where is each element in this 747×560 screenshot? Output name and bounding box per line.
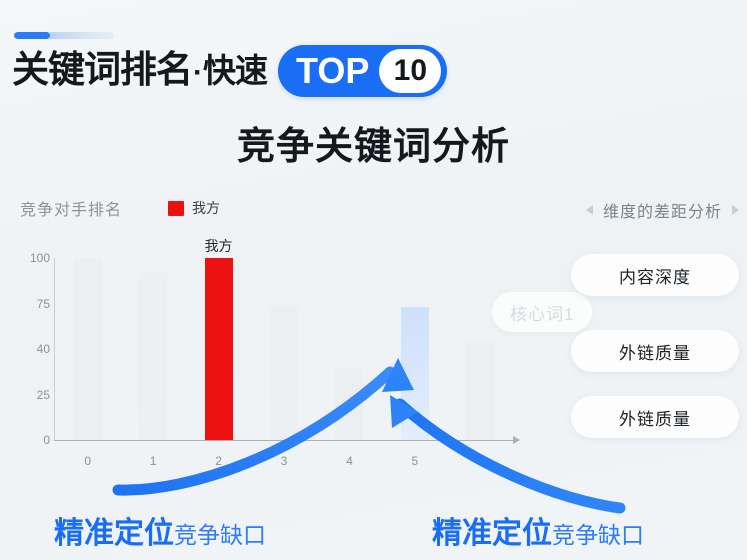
chart-y-tick-label: 40 [14,342,50,356]
chart-x-tick-label: 5 [412,454,419,468]
progress-bar [14,32,114,39]
dimension-panel-title: 维度的差距分析 [603,198,722,222]
top-badge-number-pill: 10 [379,49,441,93]
chart-axis-horizontal [54,440,514,441]
chart-axis-arrow-icon [513,436,520,444]
caption-left-weak: 竞争缺口 [174,516,266,550]
chart-bar[interactable] [139,273,167,440]
chart-x-tick-label: 1 [150,454,157,468]
kicker-sub: 快速 [203,52,267,89]
dimension-card-label: 内容深度 [619,263,691,288]
chart-bar[interactable] [270,307,298,440]
caption-left: 精准定位 竞争缺口 [54,508,266,552]
legend-item-label: 我方 [192,198,220,218]
header-kicker: 关键词排名·快速 [12,44,267,98]
dimension-card-3[interactable]: 外链质量 [571,396,739,438]
top-badge-word: TOP [296,50,369,92]
chart-bar-highlight-label: 我方 [205,236,233,256]
progress-bar-soft [50,32,114,39]
kicker-dot: · [192,56,203,89]
kicker-text: 关键词排名·快速 [12,43,267,100]
dimension-card-label: 外链质量 [619,405,691,430]
chart-y-axis: 1007540250 [14,250,50,440]
core-keyword-pill[interactable]: 核心词1 [492,292,592,332]
caption-left-strong: 精准定位 [54,508,174,552]
dimension-card-label: 外链质量 [619,339,691,364]
core-keyword-label: 核心词1 [510,300,574,325]
dimension-card-1[interactable]: 内容深度 [571,254,739,296]
top-rank-badge[interactable]: TOP 10 [278,45,447,97]
chart-y-tick-label: 100 [14,251,50,265]
chart-plot-area: 01我方23455 [55,258,513,440]
caption-right: 精准定位 竞争缺口 [432,508,644,552]
chart-bar[interactable] [335,367,363,440]
chevron-right-icon[interactable] [732,205,739,215]
chart-x-tick-label: 3 [281,454,288,468]
kicker-main: 关键词排名 [12,49,192,90]
top-badge-number: 10 [394,54,427,88]
chart-bar-highlight[interactable] [205,258,233,440]
page-title: 竞争关键词分析 [0,115,747,170]
chart-bar[interactable] [401,307,429,440]
chart-x-tick-label: 0 [84,454,91,468]
chart-legend: 竞争对手排名 我方 [20,196,220,220]
chart-y-tick-label: 25 [14,388,50,402]
chevron-left-icon[interactable] [586,205,593,215]
progress-bar-fill [14,32,50,39]
caption-right-strong: 精准定位 [432,508,552,552]
chart-x-tick-label: 2 [215,454,222,468]
competitor-bar-chart: 1007540250 01我方23455 [14,250,534,460]
chart-legend-title: 竞争对手排名 [20,196,122,220]
chart-bar[interactable] [74,258,102,440]
dimension-card-2[interactable]: 外链质量 [571,330,739,372]
dimension-panel-header: 维度的差距分析 [586,198,739,222]
chart-x-tick-label: 5 [477,454,484,468]
chart-y-tick-label: 0 [14,433,50,447]
legend-item-mine[interactable]: 我方 [168,198,220,218]
chart-bar[interactable] [466,340,494,440]
chart-x-tick-label: 4 [346,454,353,468]
slide-canvas: 关键词排名·快速 TOP 10 竞争关键词分析 竞争对手排名 我方 维度的差距分… [0,0,747,560]
caption-right-weak: 竞争缺口 [552,516,644,550]
legend-swatch-icon [168,201,184,216]
chart-y-tick-label: 75 [14,297,50,311]
